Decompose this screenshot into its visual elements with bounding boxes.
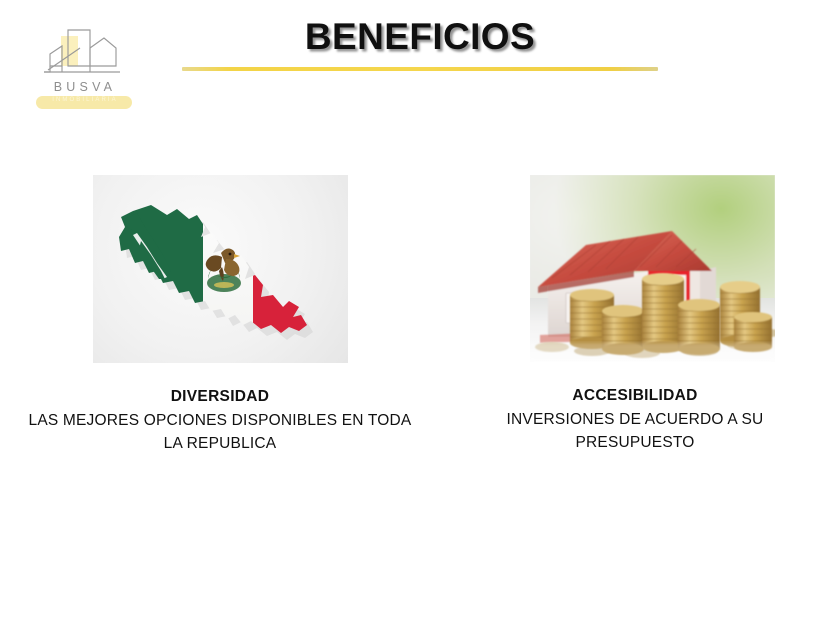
logo-wordmark: BUSVA — [28, 80, 138, 94]
benefit-heading: ACCESIBILIDAD — [450, 384, 820, 407]
benefit-card-diversidad: DIVERSIDAD LAS MEJORES OPCIONES DISPONIB… — [20, 175, 420, 455]
logo-tagline: INMOBILIARIA — [36, 97, 132, 103]
logo-tagline-band: INMOBILIARIA — [36, 96, 132, 109]
benefit-body: LAS MEJORES OPCIONES DISPONIBLES EN TODA… — [20, 409, 420, 455]
building-outline-icon — [28, 26, 138, 82]
brand-logo: BUSVA INMOBILIARIA — [28, 26, 138, 116]
mexico-map-flag-image — [93, 175, 348, 363]
benefit-body: INVERSIONES DE ACUERDO A SU PRESUPUESTO — [450, 408, 820, 454]
benefit-caption-diversidad: DIVERSIDAD LAS MEJORES OPCIONES DISPONIB… — [20, 385, 420, 455]
house-model-with-coin-stacks-image — [530, 175, 775, 362]
benefit-heading: DIVERSIDAD — [20, 385, 420, 408]
benefit-caption-accesibilidad: ACCESIBILIDAD INVERSIONES DE ACUERDO A S… — [450, 384, 820, 454]
slide-beneficios: BUSVA INMOBILIARIA BENEFICIOS — [0, 0, 840, 630]
title-underline-rule — [182, 67, 658, 71]
benefit-card-accesibilidad: ACCESIBILIDAD INVERSIONES DE ACUERDO A S… — [450, 175, 820, 454]
page-title: BENEFICIOS — [180, 16, 660, 58]
